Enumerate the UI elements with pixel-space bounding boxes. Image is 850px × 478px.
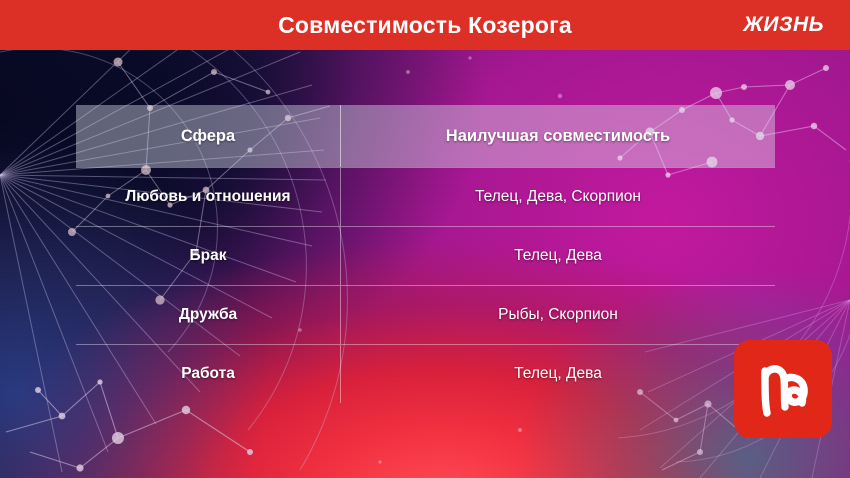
column-header-sphere: Сфера [76,105,341,167]
column-header-best-match: Наилучшая совместимость [341,105,775,167]
cell-sphere: Брак [76,227,341,285]
cell-sphere: Любовь и отношения [76,168,341,226]
cell-sphere: Дружба [76,286,341,344]
table-row: Любовь и отношения Телец, Дева, Скорпион [76,167,775,226]
table-header-row: Сфера Наилучшая совместимость [76,105,775,167]
cell-sphere: Работа [76,345,341,403]
brand-logo: ЖИЗНЬ [743,13,824,37]
cell-best-match: Телец, Дева, Скорпион [341,168,775,226]
capricorn-zodiac-icon [749,355,817,423]
slide-canvas: Совместимость Козерога ЖИЗНЬ Сфера Наилу… [0,0,850,478]
header-bar: Совместимость Козерога ЖИЗНЬ [0,0,850,50]
cell-best-match: Телец, Дева [341,345,775,403]
table-row: Дружба Рыбы, Скорпион [76,285,775,344]
zodiac-badge [734,340,832,438]
table-row: Брак Телец, Дева [76,226,775,285]
cell-best-match: Телец, Дева [341,227,775,285]
cell-best-match: Рыбы, Скорпион [341,286,775,344]
compatibility-table: Сфера Наилучшая совместимость Любовь и о… [76,105,775,403]
page-title: Совместимость Козерога [0,0,850,50]
table-row: Работа Телец, Дева [76,344,775,403]
